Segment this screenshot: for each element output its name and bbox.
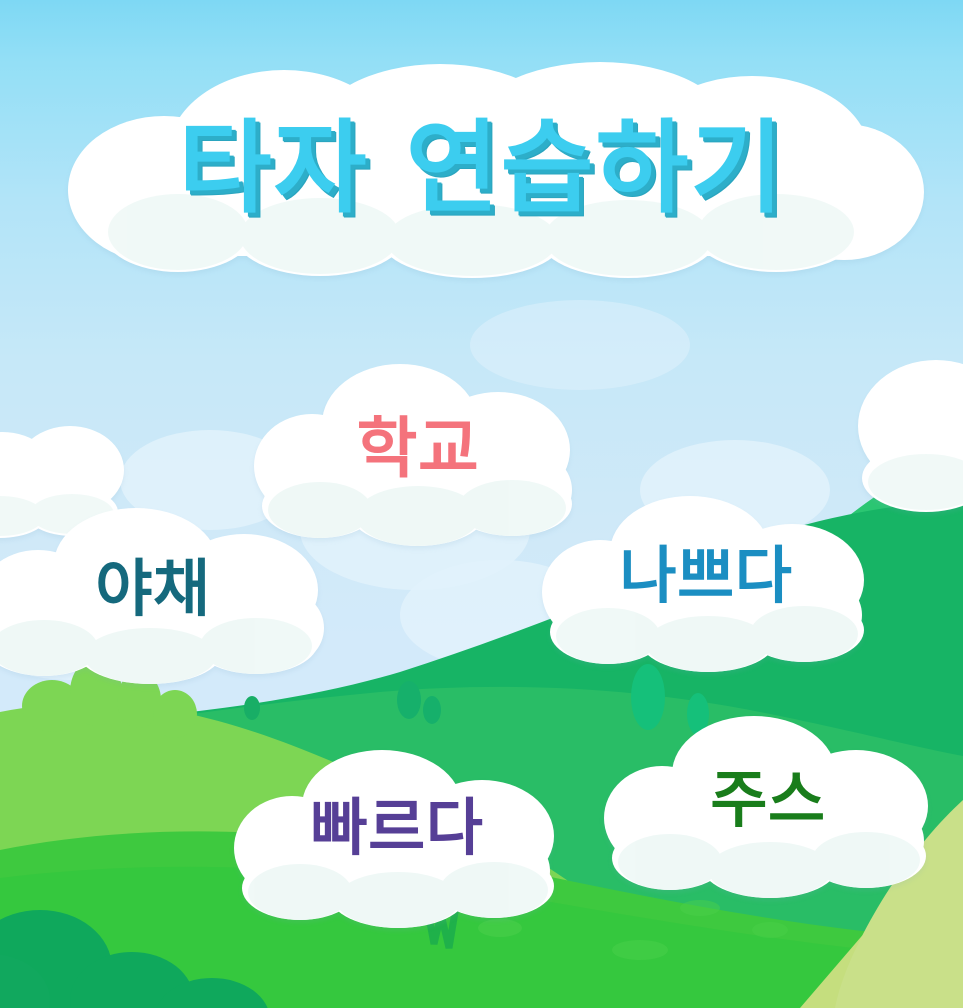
tree [244, 696, 260, 720]
page-title: 타자 연습하기 [52, 62, 912, 272]
word-cloud-ppareuda[interactable]: 빠르다 [232, 748, 562, 928]
title-cloud: 타자 연습하기 [52, 62, 912, 272]
tree [397, 681, 421, 719]
word-cloud-juseu[interactable]: 주스 [600, 716, 936, 901]
word-cloud-nappeuda[interactable]: 나쁘다 [538, 494, 874, 674]
word-cloud-yachae[interactable]: 야채 [0, 506, 338, 686]
bush [153, 690, 197, 738]
typing-practice-screen: 타자 연습하기 [0, 0, 963, 1008]
tree [423, 696, 441, 724]
